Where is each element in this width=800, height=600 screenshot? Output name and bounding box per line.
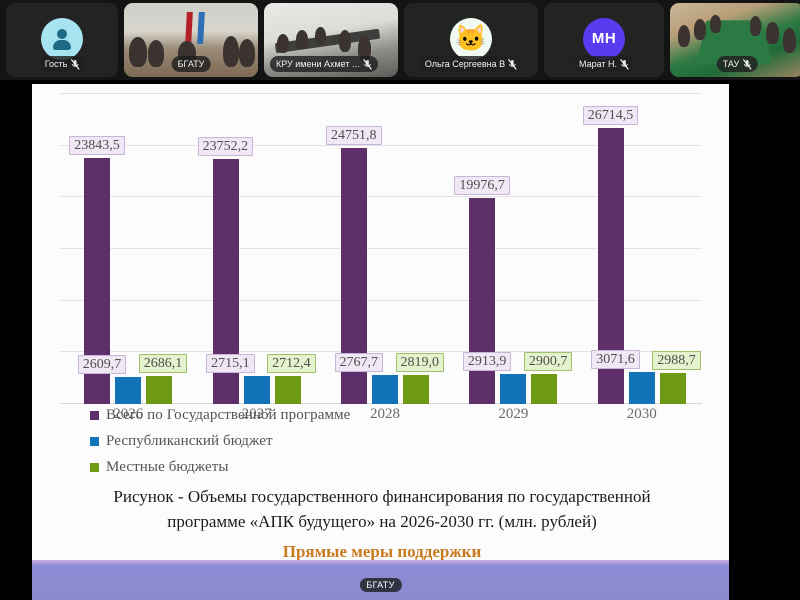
legend-item-republican: Республиканский бюджет xyxy=(90,428,350,454)
chart-bar-republican-2026 xyxy=(115,377,141,404)
legend-swatch-icon xyxy=(90,411,99,420)
chart-bar-republican-2029 xyxy=(500,374,526,404)
participant-name-chip: Ольга Сергеевна В xyxy=(419,56,523,72)
legend-swatch-icon xyxy=(90,463,99,472)
participant-tile-guest[interactable]: Гость xyxy=(6,3,118,77)
participant-name: ТАУ xyxy=(723,58,740,70)
avatar-initials: МН xyxy=(592,30,616,47)
chart-data-label: 2686,1 xyxy=(139,354,188,373)
person-icon xyxy=(52,28,72,50)
legend-label: Республиканский бюджет xyxy=(106,433,273,450)
chart-plot-area: 23843,52609,72686,123752,22715,12712,424… xyxy=(60,94,702,404)
participant-tile-tau[interactable]: ТАУ xyxy=(670,3,800,77)
avatar xyxy=(41,18,83,60)
mic-off-icon xyxy=(508,59,517,70)
screen-root: Гость БГАТУ xyxy=(0,0,800,600)
avatar: МН xyxy=(583,18,625,60)
chart-bar-republican-2028 xyxy=(372,375,398,404)
mic-off-icon xyxy=(70,59,79,70)
participant-name-chip: Гость xyxy=(39,56,86,72)
participant-tile-kru[interactable]: КРУ имени Ахмет ... xyxy=(264,3,398,77)
chart-bar-local-2027 xyxy=(275,376,301,404)
chart-bar-republican-2030 xyxy=(629,372,655,404)
shared-slide[interactable]: 23843,52609,72686,123752,22715,12712,424… xyxy=(32,84,729,560)
legend-swatch-icon xyxy=(90,437,99,446)
chart-data-label: 23843,5 xyxy=(69,136,125,155)
participant-name: КРУ имени Ахмет ... xyxy=(276,58,360,70)
participant-name: БГАТУ xyxy=(178,58,205,70)
participant-tile-olga[interactable]: 🐱 Ольга Сергеевна В xyxy=(404,3,538,77)
chart-bar-local-2029 xyxy=(531,374,557,404)
participant-name-chip: БГАТУ xyxy=(172,56,211,72)
participant-name: Марат Н. xyxy=(579,58,617,70)
legend-label: Местные бюджеты xyxy=(106,459,229,476)
mic-off-icon xyxy=(620,59,629,70)
chart-bar-republican-2027 xyxy=(244,376,270,404)
chart-data-label: 19976,7 xyxy=(454,176,510,195)
slide-footer-band: БГАТУ xyxy=(32,560,729,600)
participant-name-chip: Марат Н. xyxy=(573,56,635,72)
chart-bar-local-2030 xyxy=(660,373,686,404)
participant-name-chip: ТАУ xyxy=(717,56,758,72)
participant-filmstrip: Гость БГАТУ xyxy=(0,0,800,80)
participant-name: Гость xyxy=(45,58,68,70)
participant-name-chip: КРУ имени Ахмет ... xyxy=(270,56,378,72)
chart-data-label: 2819,0 xyxy=(396,353,445,372)
chart-bar-local-2026 xyxy=(146,376,172,404)
avatar: 🐱 xyxy=(450,18,492,60)
caption-line-1: Рисунок - Объемы государственного финанс… xyxy=(113,487,650,506)
chart-data-label: 2715,1 xyxy=(206,354,255,373)
chart-data-label: 23752,2 xyxy=(198,137,254,156)
legend-item-local: Местные бюджеты xyxy=(90,454,350,480)
chart-data-label: 2609,7 xyxy=(78,355,127,374)
presenter-name-chip: БГАТУ xyxy=(359,578,401,592)
chart-x-label-2029: 2029 xyxy=(498,406,528,423)
caption-line-2: программе «АПК будущего» на 2026-2030 гг… xyxy=(167,512,596,531)
slide-caption: Рисунок - Объемы государственного финанс… xyxy=(62,484,702,564)
chart-data-label: 24751,8 xyxy=(326,126,382,145)
participant-name: Ольга Сергеевна В xyxy=(425,58,505,70)
chart-data-label: 2767,7 xyxy=(335,353,384,372)
chart-data-label: 26714,5 xyxy=(583,106,639,125)
participant-tile-bgatu[interactable]: БГАТУ xyxy=(124,3,258,77)
bar-chart: 23843,52609,72686,123752,22715,12712,424… xyxy=(60,94,702,404)
chart-gridline xyxy=(60,93,702,94)
chart-bar-total-2029 xyxy=(469,198,495,404)
chart-data-label: 2900,7 xyxy=(524,352,573,371)
participant-tile-marat[interactable]: МН Марат Н. xyxy=(544,3,664,77)
mic-off-icon xyxy=(742,59,751,70)
legend-label: Всего по Государственной программе xyxy=(106,407,350,424)
chart-x-label-2028: 2028 xyxy=(370,406,400,423)
chart-legend: Всего по Государственной программе Респу… xyxy=(90,402,350,480)
chart-data-label: 3071,6 xyxy=(591,350,640,369)
cat-face-icon: 🐱 xyxy=(455,23,487,54)
chart-data-label: 2913,9 xyxy=(463,352,512,371)
chart-data-label: 2712,4 xyxy=(267,354,316,373)
chart-data-label: 2988,7 xyxy=(652,351,701,370)
legend-item-total: Всего по Государственной программе xyxy=(90,402,350,428)
chart-bar-local-2028 xyxy=(403,375,429,404)
mic-off-icon xyxy=(363,59,372,70)
chart-x-label-2030: 2030 xyxy=(627,406,657,423)
